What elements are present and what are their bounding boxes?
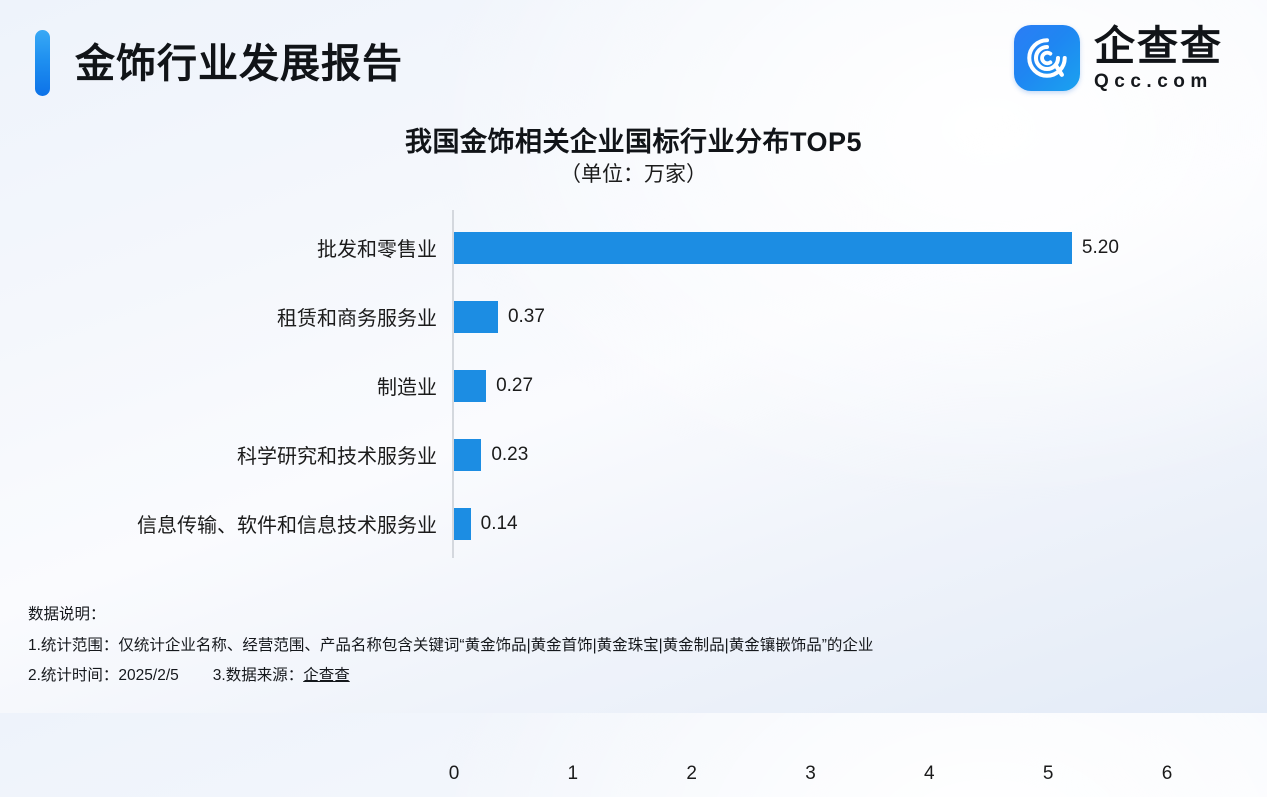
x-axis: 0123456 xyxy=(0,763,1267,797)
bar[interactable] xyxy=(454,232,1072,264)
bar[interactable] xyxy=(454,439,481,471)
data-notes: 数据说明： 1.统计范围：仅统计企业名称、经营范围、产品名称包含关键词“黄金饰品… xyxy=(28,607,1238,684)
note-time-and-source: 2.统计时间：2025/2/5 3.数据来源： 企查查 xyxy=(28,668,1238,684)
brand-logo: 企查查 Qcc.com xyxy=(1014,19,1223,97)
brand-name-en: Qcc.com xyxy=(1094,72,1223,91)
bar-category-label: 租赁和商务服务业 xyxy=(0,302,437,331)
note-scope: 1.统计范围：仅统计企业名称、经营范围、产品名称包含关键词“黄金饰品|黄金首饰|… xyxy=(28,638,1238,654)
notes-heading: 数据说明： xyxy=(28,607,1238,623)
brand-text: 企查查 Qcc.com xyxy=(1094,26,1223,91)
bar-value-label: 0.14 xyxy=(481,513,518,535)
note-source-label: 3.数据来源： xyxy=(213,668,303,684)
bar-category-label: 信息传输、软件和信息技术服务业 xyxy=(0,509,437,538)
bar-category-label: 科学研究和技术服务业 xyxy=(0,440,437,469)
chart-subtitle: （单位：万家） xyxy=(0,158,1267,188)
bar-value-label: 0.27 xyxy=(496,375,533,397)
bar[interactable] xyxy=(454,301,498,333)
bar[interactable] xyxy=(454,508,471,540)
bar-category-label: 制造业 xyxy=(0,371,437,400)
qcc-logo-icon xyxy=(1014,25,1080,91)
bar-value-label: 0.23 xyxy=(491,444,528,466)
bar-category-label: 批发和零售业 xyxy=(0,233,437,262)
bar-value-label: 5.20 xyxy=(1082,237,1119,259)
bar-row: 制造业0.27 xyxy=(0,351,1267,420)
x-axis-tick: 1 xyxy=(553,763,593,785)
bar-row: 批发和零售业5.20 xyxy=(0,213,1267,282)
page-title: 金饰行业发展报告 xyxy=(75,36,403,92)
accent-bar-icon xyxy=(35,30,50,96)
x-axis-tick: 0 xyxy=(434,763,474,785)
bar-row: 信息传输、软件和信息技术服务业0.14 xyxy=(0,489,1267,558)
x-axis-tick: 6 xyxy=(1147,763,1187,785)
bar[interactable] xyxy=(454,370,486,402)
bar-row: 科学研究和技术服务业0.23 xyxy=(0,420,1267,489)
x-axis-tick: 4 xyxy=(909,763,949,785)
x-axis-tick: 5 xyxy=(1028,763,1068,785)
x-axis-tick: 3 xyxy=(791,763,831,785)
x-axis-tick: 2 xyxy=(672,763,712,785)
brand-name-cn: 企查查 xyxy=(1094,26,1223,67)
bar-chart: 批发和零售业5.20租赁和商务服务业0.37制造业0.27科学研究和技术服务业0… xyxy=(0,205,1267,560)
note-time: 2.统计时间：2025/2/5 xyxy=(28,668,179,684)
chart-title: 我国金饰相关企业国标行业分布TOP5 xyxy=(0,120,1267,159)
bar-value-label: 0.37 xyxy=(508,306,545,328)
page-header: 金饰行业发展报告 企查查 Qcc.com xyxy=(0,0,1267,118)
note-source-link[interactable]: 企查查 xyxy=(303,668,350,684)
bar-row: 租赁和商务服务业0.37 xyxy=(0,282,1267,351)
